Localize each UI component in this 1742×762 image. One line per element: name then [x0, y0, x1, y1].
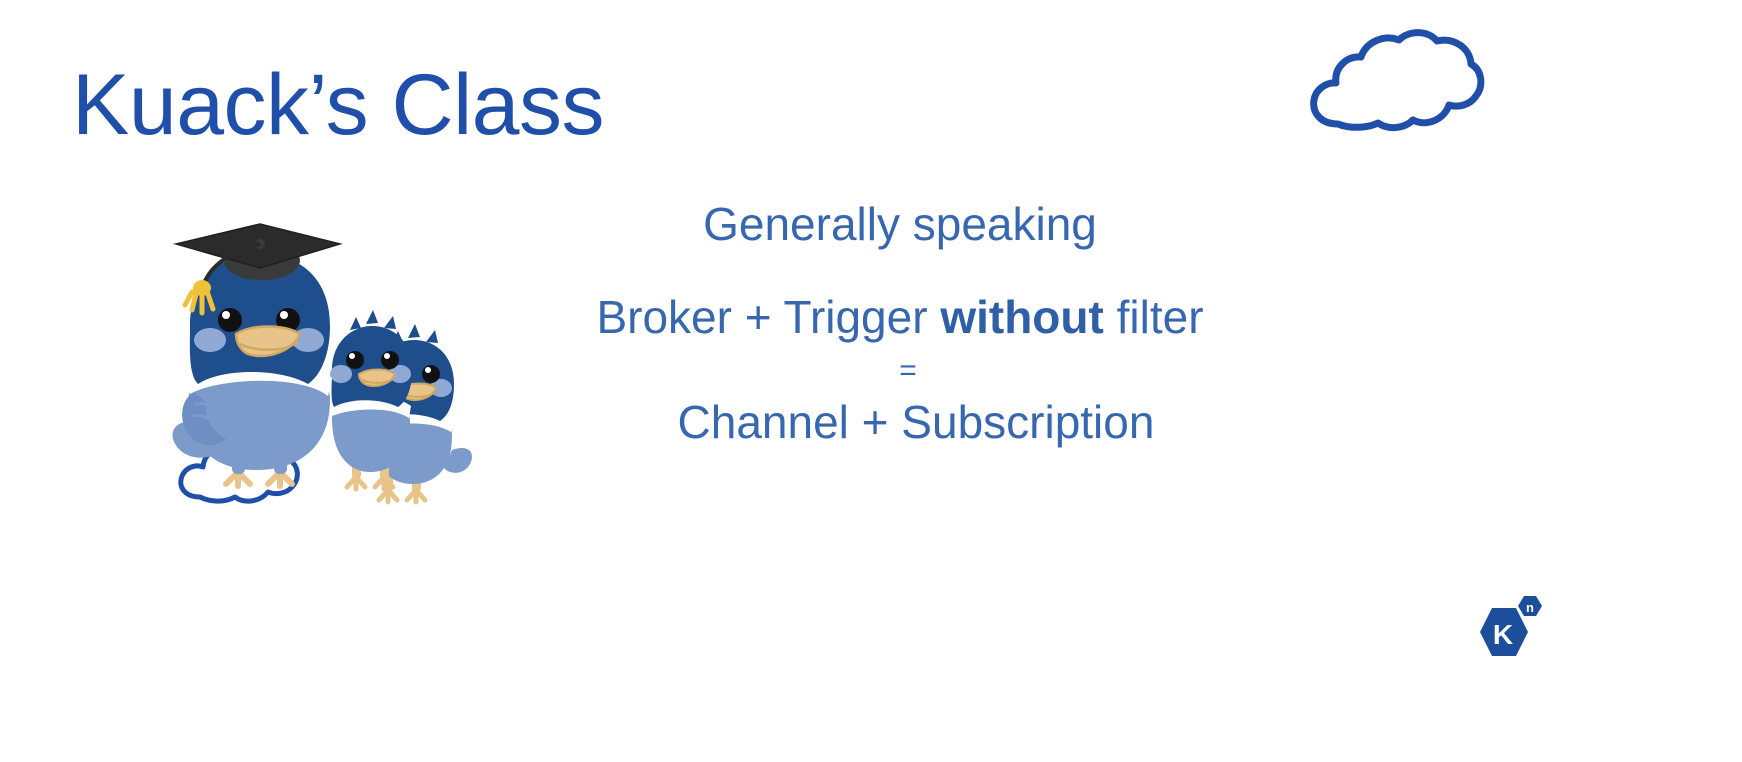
equation-prefix: Broker + Trigger: [596, 291, 940, 343]
presentation-slide: Kuack’s Class: [0, 0, 1742, 762]
mascot-illustration: [160, 222, 510, 522]
equation-emphasis: without: [940, 291, 1104, 343]
body-line-equals-sign: =: [528, 353, 1288, 389]
body-line-equation-left: Broker + Trigger without filter: [520, 290, 1280, 345]
equation-suffix: filter: [1104, 291, 1204, 343]
knative-logo: K n: [1462, 592, 1546, 670]
slide-body-text: Generally speaking Broker + Trigger with…: [520, 196, 1280, 450]
body-line-lead: Generally speaking: [520, 196, 1280, 254]
graduate-bird: [172, 224, 340, 486]
logo-letter-n: n: [1526, 600, 1534, 615]
cloud-outline-icon: [1306, 28, 1486, 138]
body-line-equation-right: Channel + Subscription: [536, 395, 1296, 450]
logo-letter-k: K: [1493, 619, 1513, 650]
page-title: Kuack’s Class: [72, 62, 604, 148]
